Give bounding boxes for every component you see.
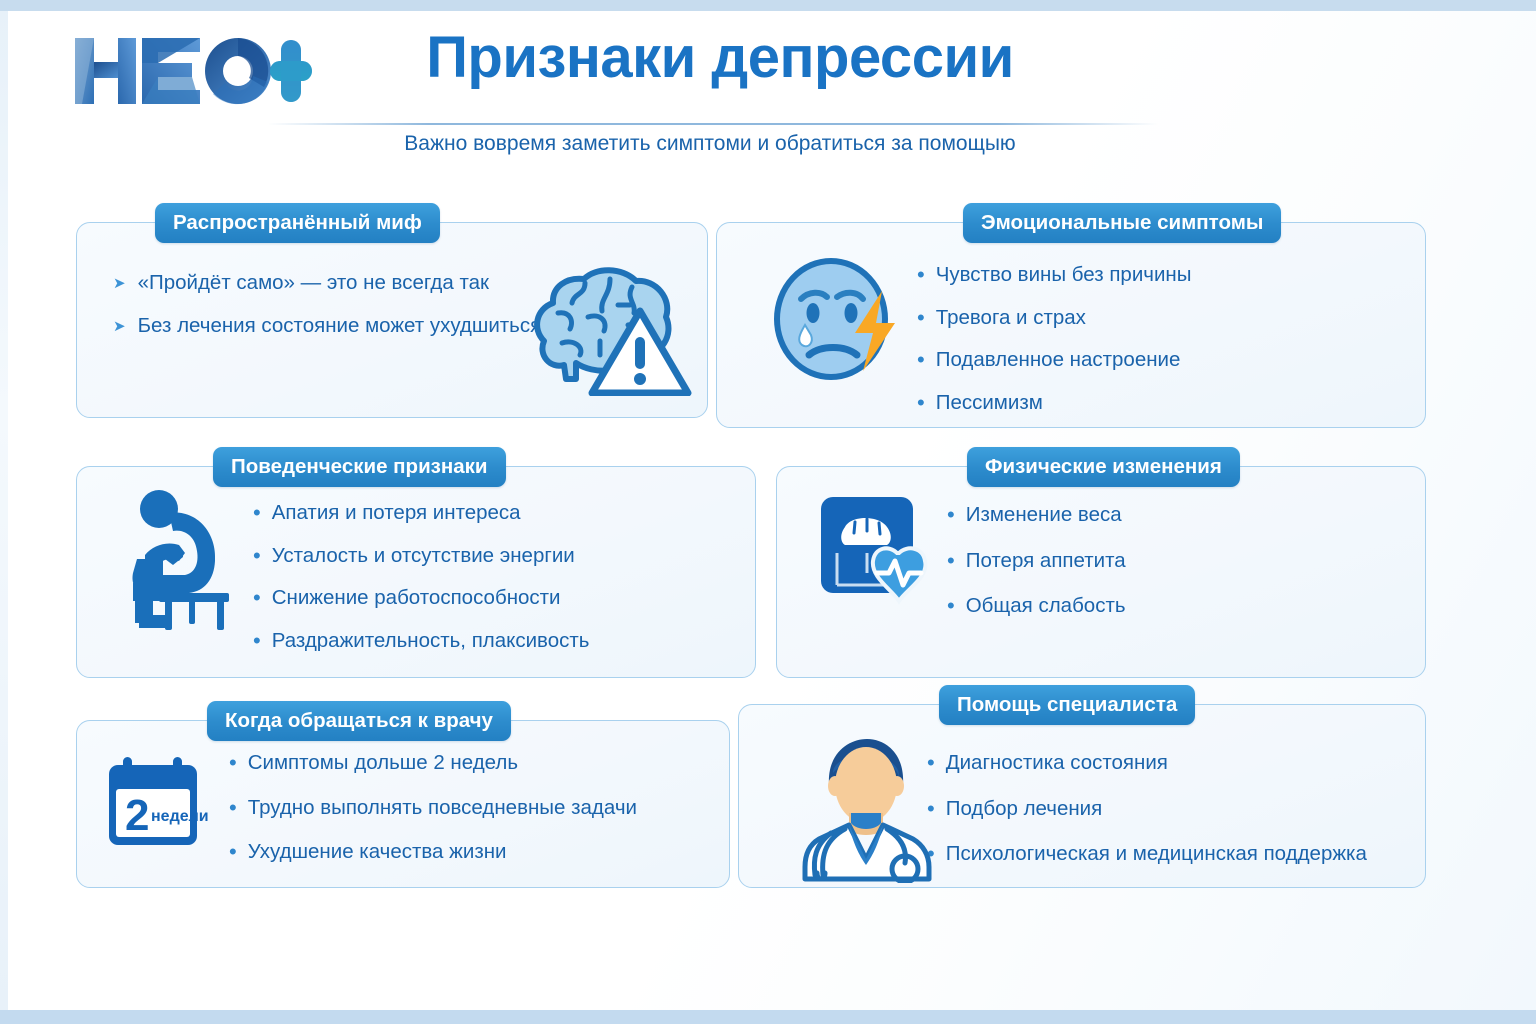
list-item-label: Тревога и страх <box>936 306 1086 330</box>
card-behavioral: • Апатия и потеря интереса • Усталость и… <box>76 466 756 678</box>
list-item: • Усталость и отсутствие энергии <box>253 544 589 568</box>
list-item-label: Подбор лечения <box>946 797 1103 821</box>
sitting-person-icon <box>123 487 243 637</box>
list-item-label: Без лечения состояние может ухудшиться <box>138 314 542 338</box>
page-title: Признаки депрессии <box>380 24 1060 91</box>
list-item-label: Потеря аппетита <box>966 549 1126 573</box>
dot-bullet-icon: • <box>229 752 237 774</box>
brain-warning-icon <box>522 251 697 401</box>
list-item: • Апатия и потеря интереса <box>253 501 589 525</box>
list-item-label: Диагностика состояния <box>946 751 1168 775</box>
arrow-bullet-icon: ➤ <box>113 319 126 334</box>
list-item-label: Подавленное настроение <box>936 348 1181 372</box>
card-title-behavioral: Поведенческие признаки <box>213 447 506 487</box>
dot-bullet-icon: • <box>253 502 261 524</box>
list-item: • Снижение работоспособности <box>253 586 589 610</box>
list-item: • Изменение веса <box>947 503 1126 527</box>
list-item-label: Изменение веса <box>966 503 1122 527</box>
list-item-label: Ухудшение качества жизни <box>248 840 507 864</box>
list-item: • Симптомы дольше 2 недель <box>229 751 637 775</box>
sad-face-lightning-icon <box>769 249 909 394</box>
list-item-label: Пессимизм <box>936 391 1043 415</box>
card-specialist-help: • Диагностика состояния • Подбор лечения… <box>738 704 1426 888</box>
dot-bullet-icon: • <box>917 307 925 329</box>
dot-bullet-icon: • <box>947 550 955 572</box>
card-title-emotional: Эмоциональные симптомы <box>963 203 1281 243</box>
dot-bullet-icon: • <box>253 630 261 652</box>
dot-bullet-icon: • <box>229 841 237 863</box>
list-item-label: Снижение работоспособности <box>272 586 561 610</box>
dot-bullet-icon: • <box>917 392 925 414</box>
list-item: • Раздражительность, плаксивость <box>253 629 589 653</box>
calendar-2-weeks-icon: 2 недели <box>103 753 219 858</box>
bottom-edge-strip <box>0 1010 1536 1024</box>
top-edge-strip <box>0 0 1536 11</box>
list-item-label: Чувство вины без причины <box>936 263 1192 287</box>
calendar-number: 2 <box>125 791 149 840</box>
list-item: • Тревога и страх <box>917 306 1191 330</box>
doctor-icon <box>783 733 943 888</box>
list-item-label: Раздражительность, плаксивость <box>272 629 590 653</box>
card-physical: • Изменение веса • Потеря аппетита • Общ… <box>776 466 1426 678</box>
infographic-page: Признаки депрессии Важно вовремя заметит… <box>0 0 1536 1024</box>
list-item: ➤ «Пройдёт само» — это не всегда так <box>113 271 541 295</box>
dot-bullet-icon: • <box>947 504 955 526</box>
list-item: • Ухудшение качества жизни <box>229 840 637 864</box>
list-item-label: Усталость и отсутствие энергии <box>272 544 575 568</box>
left-edge-strip <box>0 11 8 1010</box>
list-item: • Пессимизм <box>917 391 1191 415</box>
list-item-label: Трудно выполнять повседневные задачи <box>248 796 637 820</box>
list-item: • Трудно выполнять повседневные задачи <box>229 796 637 820</box>
list-item-label: Симптомы дольше 2 недель <box>248 751 518 775</box>
list-item-label: Апатия и потеря интереса <box>272 501 521 525</box>
list-item: • Психологическая и медицинская поддержк… <box>927 842 1367 866</box>
calendar-unit: недели <box>151 808 209 825</box>
card-title-myth: Распространённый миф <box>155 203 440 243</box>
list-item: • Потеря аппетита <box>947 549 1126 573</box>
list-item-label: Психологическая и медицинская поддержка <box>946 842 1367 866</box>
card-title-specialist-help: Помощь специалиста <box>939 685 1195 725</box>
list-item: • Подавленное настроение <box>917 348 1191 372</box>
list-item: ➤ Без лечения состояние может ухудшиться <box>113 314 541 338</box>
page-subtitle: Важно вовремя заметить симптоми и обрати… <box>260 132 1160 156</box>
list-item-label: Общая слабость <box>966 594 1126 618</box>
list-item: • Чувство вины без причины <box>917 263 1191 287</box>
dot-bullet-icon: • <box>947 595 955 617</box>
neo-plus-logo <box>72 32 312 110</box>
card-myth: ➤ «Пройдёт само» — это не всегда так ➤ Б… <box>76 222 708 418</box>
dot-bullet-icon: • <box>917 349 925 371</box>
dot-bullet-icon: • <box>253 545 261 567</box>
list-item: • Подбор лечения <box>927 797 1367 821</box>
scale-heart-icon <box>815 489 945 624</box>
card-when-to-see-doctor: • Симптомы дольше 2 недель • Трудно выпо… <box>76 720 730 888</box>
dot-bullet-icon: • <box>229 797 237 819</box>
arrow-bullet-icon: ➤ <box>113 276 126 291</box>
dot-bullet-icon: • <box>253 587 261 609</box>
card-title-when-to-see-doctor: Когда обращаться к врачу <box>207 701 511 741</box>
list-item: • Общая слабость <box>947 594 1126 618</box>
list-item: • Диагностика состояния <box>927 751 1367 775</box>
dot-bullet-icon: • <box>917 264 925 286</box>
card-title-physical: Физические изменения <box>967 447 1240 487</box>
title-divider <box>268 123 1158 125</box>
list-item-label: «Пройдёт само» — это не всегда так <box>138 271 489 295</box>
card-emotional: • Чувство вины без причины • Тревога и с… <box>716 222 1426 428</box>
